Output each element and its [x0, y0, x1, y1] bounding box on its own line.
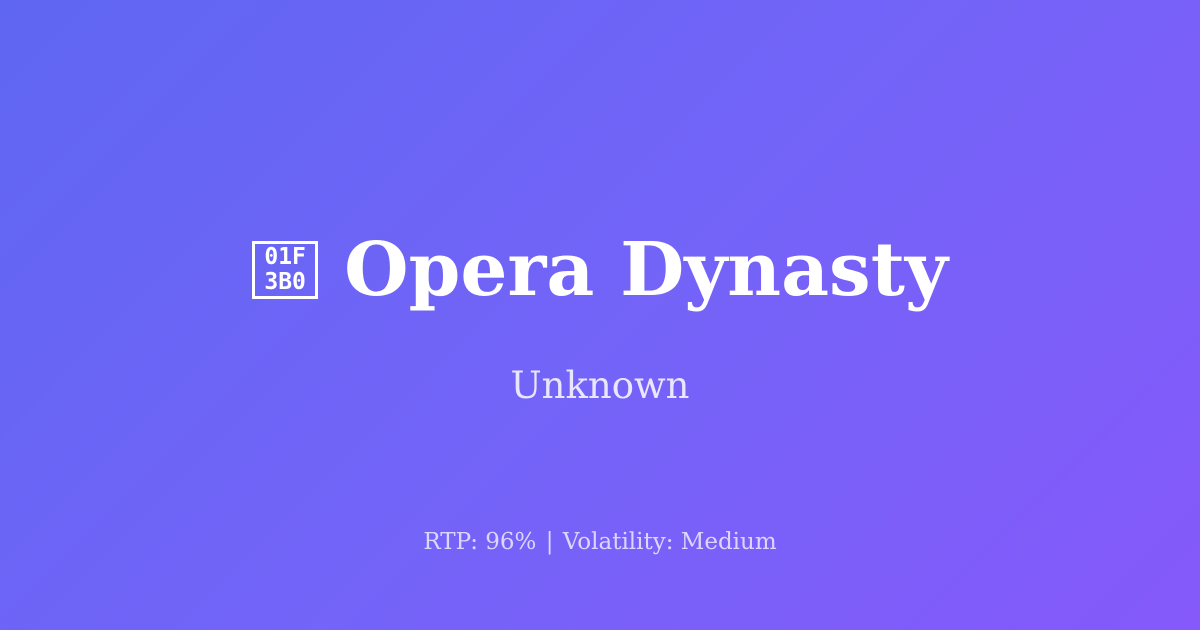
volatility-value: Volatility: Medium	[563, 529, 777, 555]
page-title: Opera Dynasty	[344, 233, 948, 307]
stats-separator: |	[544, 529, 556, 555]
game-preview-card: 01F 3B0 Opera Dynasty Unknown RTP: 96% |…	[0, 0, 1200, 630]
rtp-value: RTP: 96%	[423, 529, 536, 555]
title-row: 01F 3B0 Opera Dynasty	[0, 233, 1200, 307]
stats-line: RTP: 96% | Volatility: Medium	[0, 528, 1200, 557]
tofu-codepoint-line-2: 3B0	[264, 270, 306, 295]
provider-label: Unknown	[0, 364, 1200, 408]
slot-machine-icon: 01F 3B0	[252, 241, 318, 299]
tofu-codepoint-line-1: 01F	[264, 245, 306, 270]
